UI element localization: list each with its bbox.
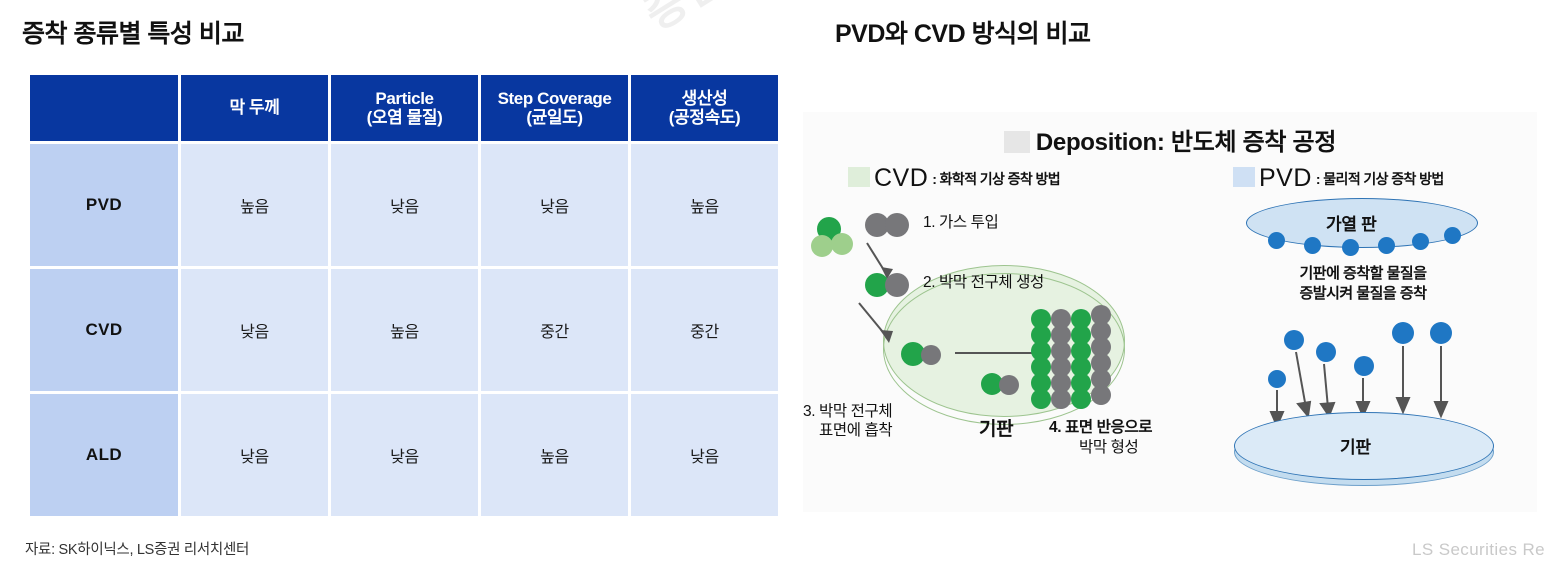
header-line2: (균일도) xyxy=(481,108,628,127)
cvd-substrate-label: 기판 xyxy=(979,419,1013,441)
table-row: ALD 낮음 낮음 높음 낮음 xyxy=(30,394,778,516)
cvd-arrow-2-icon xyxy=(855,299,909,351)
precursor-gray-icon xyxy=(885,273,909,297)
table-header-step-coverage: Step Coverage (균일도) xyxy=(481,75,628,141)
source-note: 자료: SK하이닉스, LS증권 리서치센터 xyxy=(25,538,249,559)
film-atom-icon xyxy=(1091,385,1111,405)
cell-pvd-step-coverage: 낮음 xyxy=(481,144,628,266)
cvd-step-3-label-line2: 표면에 흡착 xyxy=(819,422,892,440)
comparison-table: 막 두께 Particle (오염 물질) Step Coverage (균일도… xyxy=(27,72,781,519)
cvd-diagram: 1. 가스 투입 2. 박막 전구체 생성 xyxy=(803,207,1213,507)
header-line2: (공정속도) xyxy=(631,108,778,127)
legend-code-pvd: PVD xyxy=(1259,164,1312,192)
cvd-step-4-label-line2: 박막 형성 xyxy=(1079,439,1138,457)
table-header-corner xyxy=(30,75,178,141)
figure-heading: Deposition: 반도체 증착 공정 xyxy=(803,122,1537,157)
cvd-step-2-label: 2. 박막 전구체 생성 xyxy=(923,274,1044,292)
cell-ald-productivity: 낮음 xyxy=(631,394,778,516)
cvd-step-4-label-line1: 4. 표면 반응으로 xyxy=(1049,419,1152,437)
migrating-gray-icon xyxy=(999,375,1019,395)
table-header-productivity: 생산성 (공정속도) xyxy=(631,75,778,141)
legend-pvd: PVD: 물리적 기상 증착 방법 xyxy=(1233,164,1444,193)
film-atom-icon xyxy=(1031,389,1051,409)
left-panel: 증착 종류별 특성 비교 막 두께 Particle (오염 물질) Step … xyxy=(0,0,790,572)
film-atom-icon xyxy=(1071,389,1091,409)
cvd-step-1-label: 1. 가스 투입 xyxy=(923,214,998,232)
cell-cvd-thickness: 낮음 xyxy=(181,269,328,391)
row-label-ald: ALD xyxy=(30,394,178,516)
heading-swatch-icon xyxy=(1004,131,1030,153)
header-line1: 생산성 xyxy=(631,89,778,108)
cell-cvd-particle: 높음 xyxy=(331,269,478,391)
cell-pvd-particle: 낮음 xyxy=(331,144,478,266)
pvd-diagram: 가열 판 기판에 증착할 물질을 증발시켜 물질을 증착 xyxy=(1218,190,1538,510)
row-label-cvd: CVD xyxy=(30,269,178,391)
header-line1: Step Coverage xyxy=(481,89,628,108)
cell-ald-step-coverage: 높음 xyxy=(481,394,628,516)
legend-code-cvd: CVD xyxy=(874,164,928,192)
cell-pvd-productivity: 높음 xyxy=(631,144,778,266)
gas-molecule-gray-icon xyxy=(885,213,909,237)
legend-swatch-pvd-icon xyxy=(1233,167,1255,187)
film-atom-icon xyxy=(1051,389,1071,409)
deposition-figure: Deposition: 반도체 증착 공정 CVD: 화학적 기상 증착 방법 … xyxy=(803,112,1537,512)
cell-cvd-step-coverage: 중간 xyxy=(481,269,628,391)
gas-molecule-green-light-icon xyxy=(811,235,833,257)
adsorbed-gray-icon xyxy=(921,345,941,365)
legend-swatch-cvd-icon xyxy=(848,167,870,187)
page-title-left: 증착 종류별 특성 비교 xyxy=(22,14,244,50)
table-row: PVD 높음 낮음 낮음 높음 xyxy=(30,144,778,266)
header-line2: (오염 물질) xyxy=(331,108,478,127)
table-row: CVD 낮음 높음 중간 중간 xyxy=(30,269,778,391)
figure-heading-text: Deposition: 반도체 증착 공정 xyxy=(1036,129,1336,156)
row-label-pvd: PVD xyxy=(30,144,178,266)
comparison-table-wrapper: 막 두께 Particle (오염 물질) Step Coverage (균일도… xyxy=(27,72,763,519)
table-header-thickness: 막 두께 xyxy=(181,75,328,141)
cvd-step-3-label-line1: 3. 박막 전구체 xyxy=(803,403,892,421)
table-header-row: 막 두께 Particle (오염 물질) Step Coverage (균일도… xyxy=(30,75,778,141)
cell-ald-particle: 낮음 xyxy=(331,394,478,516)
header-line1: Particle xyxy=(331,89,478,108)
header-line1: 막 두께 xyxy=(181,98,328,117)
page-title-right: PVD와 CVD 방식의 비교 xyxy=(835,14,1091,50)
cell-ald-thickness: 낮음 xyxy=(181,394,328,516)
table-header-particle: Particle (오염 물질) xyxy=(331,75,478,141)
legend-desc-cvd: : 화학적 기상 증착 방법 xyxy=(932,171,1060,187)
cell-cvd-productivity: 중간 xyxy=(631,269,778,391)
legend-cvd: CVD: 화학적 기상 증착 방법 xyxy=(848,164,1060,193)
cell-pvd-thickness: 높음 xyxy=(181,144,328,266)
right-panel: PVD와 CVD 방식의 비교 Deposition: 반도체 증착 공정 CV… xyxy=(790,0,1545,572)
legend-desc-pvd: : 물리적 기상 증착 방법 xyxy=(1316,171,1444,187)
gas-molecule-green-light-icon xyxy=(831,233,853,255)
pvd-substrate-label: 기판 xyxy=(1340,433,1371,458)
